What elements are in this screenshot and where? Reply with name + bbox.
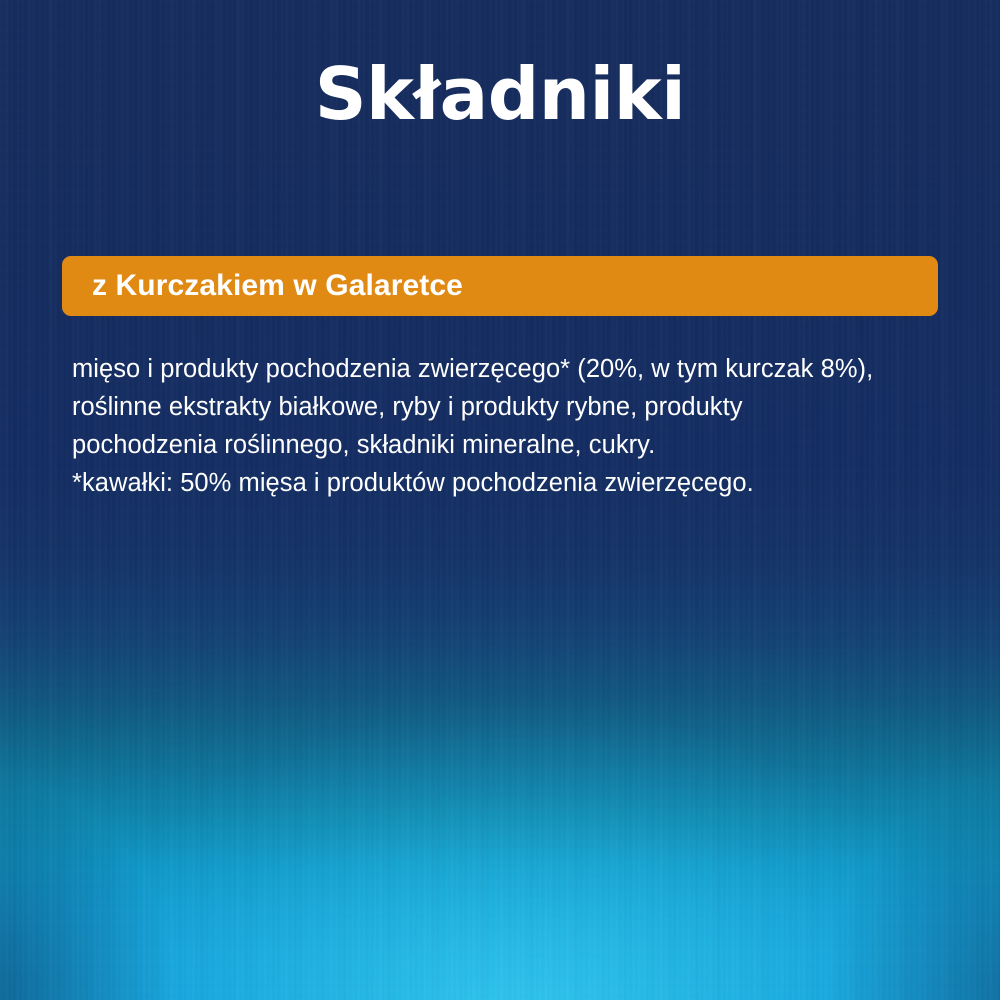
variant-banner: z Kurczakiem w Galaretce [62, 256, 938, 316]
ingredients-line: roślinne ekstrakty białkowe, ryby i prod… [72, 388, 978, 426]
ingredients-text-block: mięso i produkty pochodzenia zwierzęcego… [72, 350, 978, 502]
page-title: Składniki [0, 58, 1000, 130]
ingredients-line: pochodzenia roślinnego, składniki minera… [72, 426, 978, 464]
panel-content: Składniki z Kurczakiem w Galaretce mięso… [0, 0, 1000, 1000]
ingredients-line: *kawałki: 50% mięsa i produktów pochodze… [72, 464, 978, 502]
ingredients-panel: Składniki z Kurczakiem w Galaretce mięso… [0, 0, 1000, 1000]
ingredients-line: mięso i produkty pochodzenia zwierzęcego… [72, 350, 978, 388]
variant-banner-label: z Kurczakiem w Galaretce [62, 269, 463, 303]
